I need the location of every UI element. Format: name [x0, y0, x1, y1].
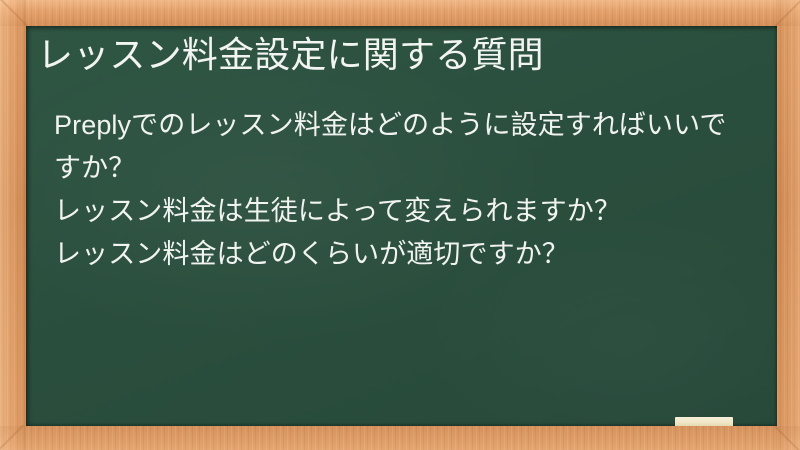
frame-bottom-rail: [0, 426, 800, 450]
frame-right-rail: [776, 0, 800, 450]
chalkboard-surface: レッスン料金設定に関する質問 Preplyでのレッスン料金はどのように設定すれば…: [26, 26, 777, 426]
question-item-2: レッスン料金は生徒によって変えられますか？: [54, 190, 754, 233]
frame-left-rail: [0, 0, 26, 450]
question-list: Preplyでのレッスン料金はどのように設定すればいいですか？ レッスン料金は生…: [54, 104, 754, 276]
question-item-1: Preplyでのレッスン料金はどのように設定すればいいですか？: [54, 104, 744, 190]
slide-title: レッスン料金設定に関する質問: [37, 32, 544, 78]
frame-top-rail: [0, 0, 800, 26]
chalkboard-slide: レッスン料金設定に関する質問 Preplyでのレッスン料金はどのように設定すれば…: [0, 0, 800, 450]
question-item-3: レッスン料金はどのくらいが適切ですか？: [54, 233, 754, 276]
chalk-stick: [675, 417, 733, 426]
